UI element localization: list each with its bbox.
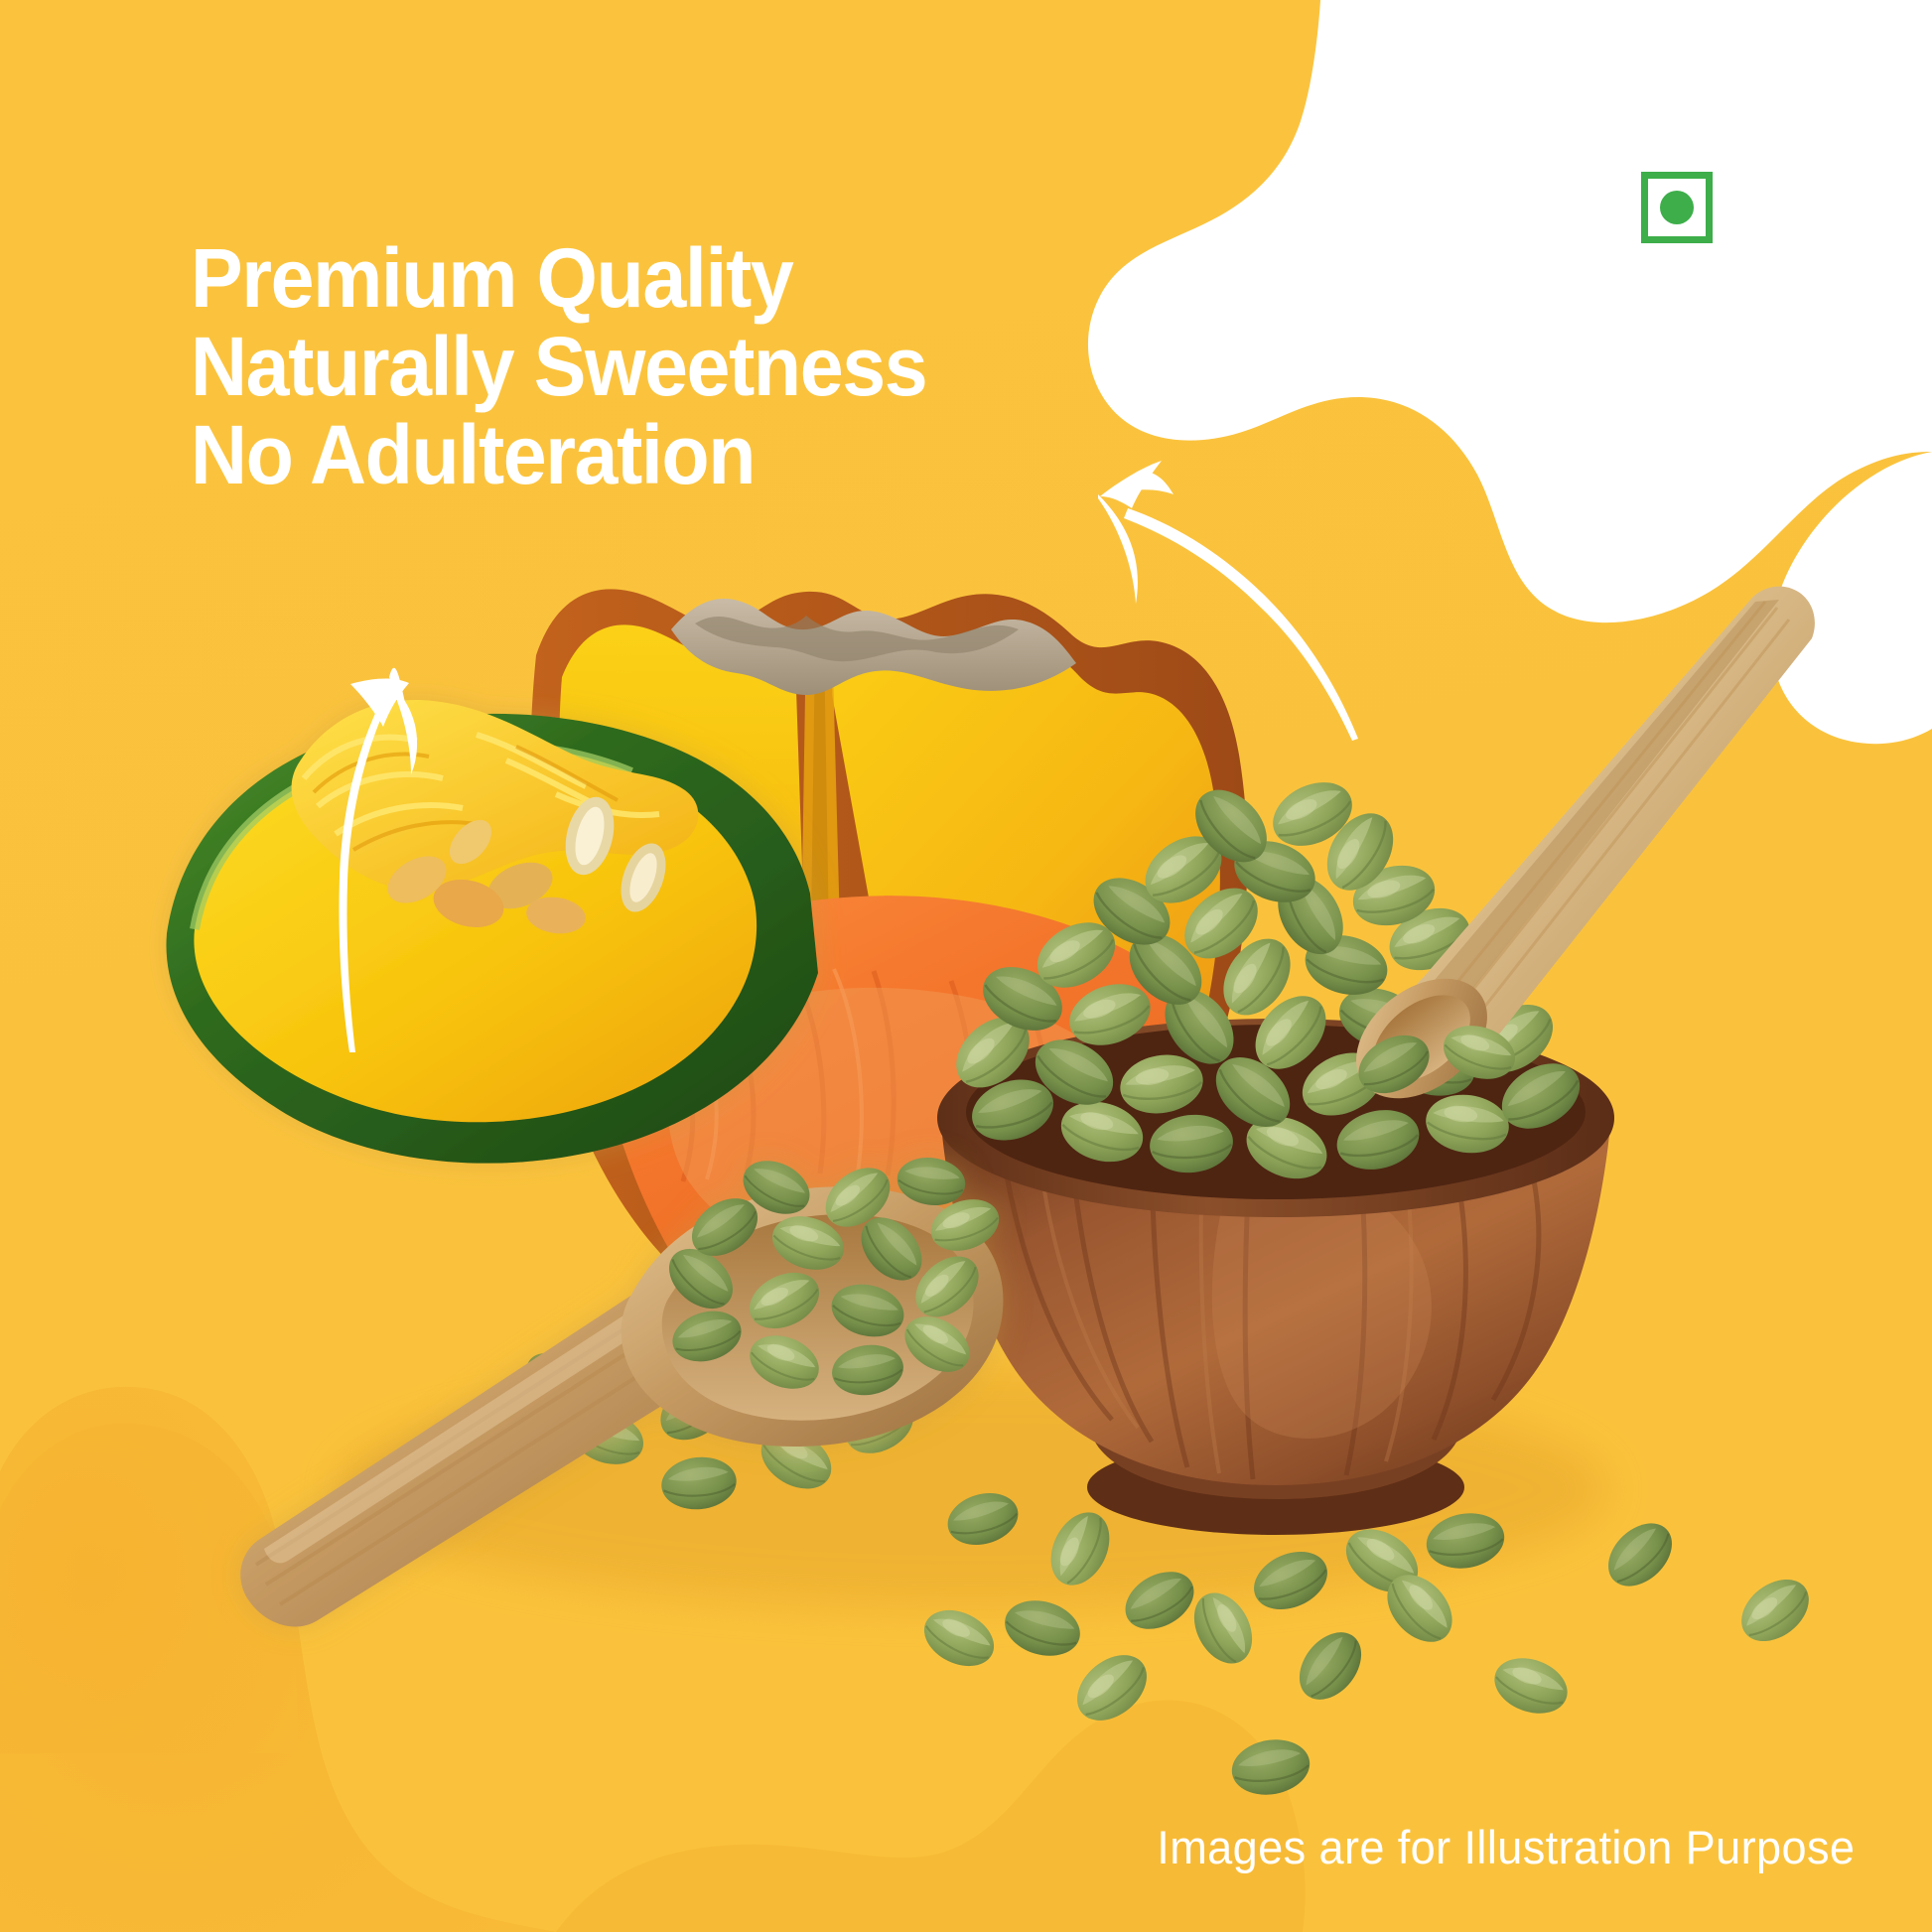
headline-line-1: Premium Quality (191, 234, 1217, 323)
curved-arrow-left-icon (339, 668, 417, 1052)
curved-arrow-right-icon (1098, 461, 1358, 741)
illustration-disclaimer: Images are for Illustration Purpose (0, 1820, 1855, 1874)
headline-line-2: Naturally Sweetness (191, 323, 1217, 411)
illustration-disclaimer-text: Images are for Illustration Purpose (1157, 1820, 1855, 1874)
headline-line-3: No Adulteration (191, 411, 1217, 499)
vegetarian-mark-icon (1641, 172, 1713, 243)
headline: Premium Quality Naturally Sweetness No A… (191, 234, 1283, 499)
vegetarian-mark-dot (1660, 191, 1694, 224)
product-banner: Premium Quality Naturally Sweetness No A… (0, 0, 1932, 1932)
